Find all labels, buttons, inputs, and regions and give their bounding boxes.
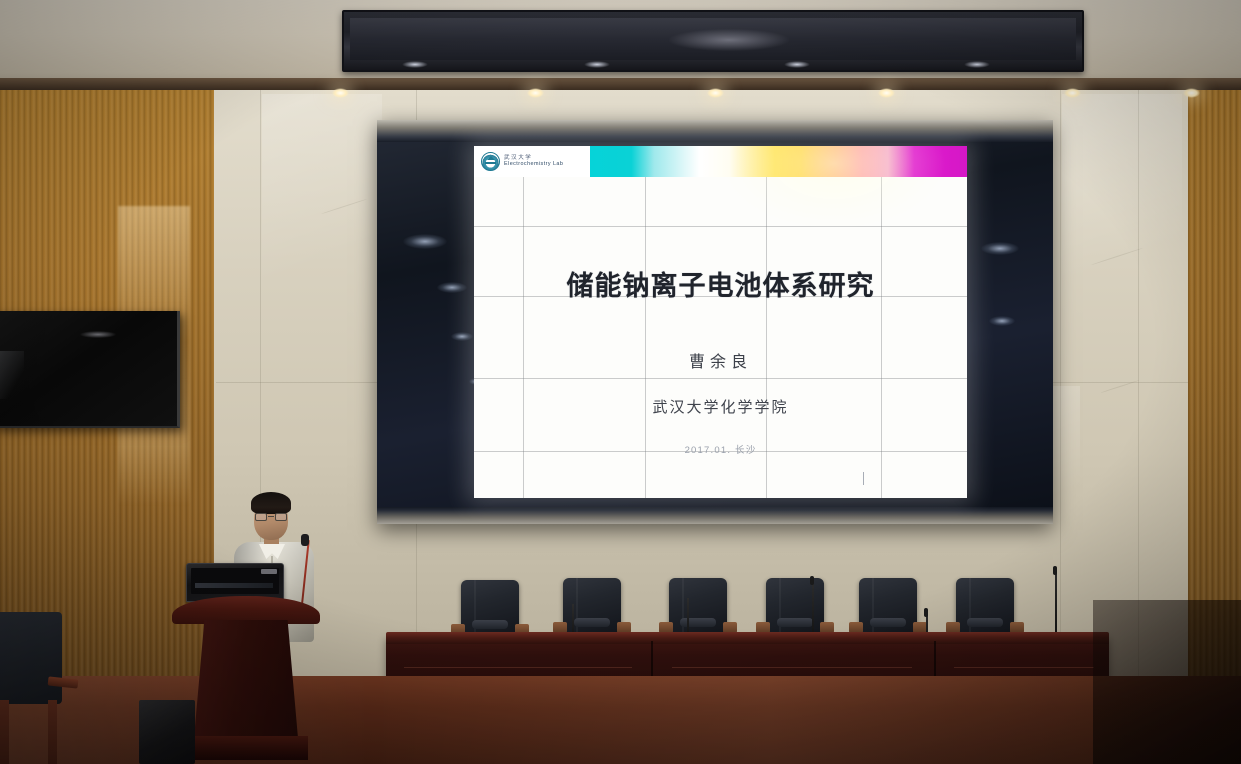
- downlight-icon: [1064, 88, 1081, 98]
- podium-column: [194, 620, 298, 738]
- university-circle-logo-icon: [481, 152, 500, 171]
- slide-affiliation: 武汉大学化学学院: [474, 396, 967, 417]
- wall-mounted-television[interactable]: [0, 311, 180, 428]
- lab-logo-block: 武汉大学 Electrochemistry Lab: [474, 146, 590, 177]
- downlight-icon: [878, 88, 895, 98]
- right-floor-shadow: [1093, 600, 1241, 764]
- screen-bottom-bezel: [377, 507, 1053, 524]
- table-microphone-head: [1053, 566, 1057, 575]
- slide-title: 储能钠离子电池体系研究: [474, 264, 967, 303]
- tv-edge-glare: [0, 351, 24, 399]
- presentation-slide[interactable]: 武汉大学 Electrochemistry Lab 储能钠离子电池体系研究 曹余…: [474, 146, 967, 498]
- slide-date-location: 2017.01. 长沙: [474, 442, 967, 456]
- header-gradient-bar: [590, 146, 967, 177]
- conference-hall-scene: 武汉大学 Electrochemistry Lab 储能钠离子电池体系研究 曹余…: [0, 0, 1241, 764]
- slide-author: 曹余良: [474, 348, 967, 372]
- downlight-icon: [332, 88, 349, 98]
- valance-reflection: [669, 29, 789, 51]
- logo-english-name: Electrochemistry Lab: [504, 162, 563, 168]
- table-microphone-stem: [1055, 572, 1057, 640]
- laptop-screen-reflection: [195, 583, 273, 588]
- tv-screen-glare: [80, 331, 116, 338]
- podium-microphone-head: [301, 534, 309, 546]
- slide-header-band: 武汉大学 Electrochemistry Lab: [474, 146, 967, 177]
- ceiling-valance-beam: [342, 10, 1084, 72]
- podium-base: [184, 736, 308, 760]
- floor-speaker: [139, 700, 195, 764]
- downlight-icon: [1183, 88, 1200, 98]
- podium-top-surface: [172, 596, 320, 624]
- slide-text-caret: [863, 472, 864, 485]
- side-chair[interactable]: [0, 612, 78, 764]
- glasses-icon: [255, 513, 287, 521]
- ceiling-trim: [0, 78, 1241, 90]
- table-microphone-head: [924, 608, 928, 617]
- downlight-icon: [527, 88, 544, 98]
- laptop-brand-badge: [261, 569, 277, 574]
- table-microphone-head: [810, 576, 814, 585]
- screen-top-bezel: [377, 120, 1053, 142]
- downlight-icon: [707, 88, 724, 98]
- table-surface: [386, 632, 1109, 644]
- wood-wall-panel-right: [1188, 86, 1241, 686]
- presenter-hair: [251, 492, 291, 514]
